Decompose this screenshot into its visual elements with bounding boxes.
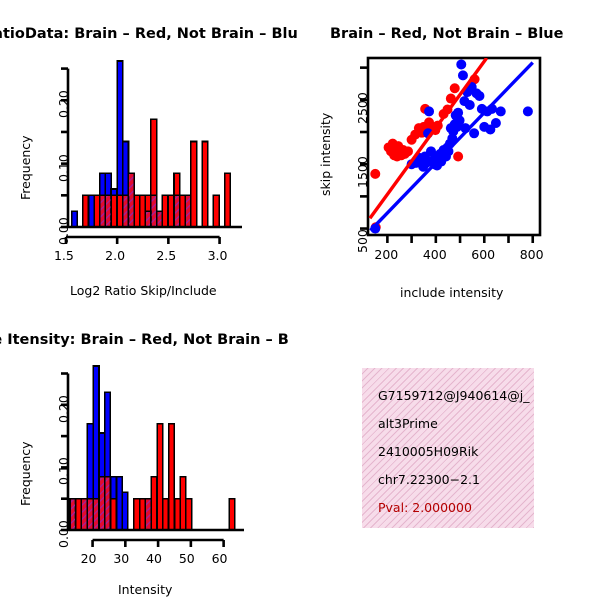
ratio-histogram-plot [0,55,300,315]
info-line: chr7.22300−2.1 [378,472,480,487]
ratio_hist-xtick-label: 2.5 [156,248,176,263]
scatter-plot [300,50,600,310]
info-line: G7159712@J940614@j_ [378,388,529,403]
intensity_hist-xtick-label: 60 [212,551,228,566]
intensity_hist-xtick-label: 20 [81,551,97,566]
scatter-xtick-label: 600 [471,247,495,262]
ratio_hist-ytick-label: 0.00 [56,217,71,245]
intensity_hist-xtick-label: 40 [146,551,162,566]
ratio_hist-ytick-label: 0.10 [56,154,71,182]
scatter-xtick-label: 400 [423,247,447,262]
ratio-histogram-title: RatioData: Brain – Red, Not Brain – Blu [0,26,298,42]
intensity_hist-xtick-label: 50 [179,551,195,566]
ratio_hist-xtick-label: 3.0 [208,248,228,263]
scatter-title: Brain – Red, Not Brain – Blue [330,26,563,42]
panel-intensity-histogram: ne Itensity: Brain – Red, Not Brain – B … [0,310,300,600]
intensity-histogram-title: ne Itensity: Brain – Red, Not Brain – B [0,332,289,348]
info-line: Pval: 2.000000 [378,500,472,515]
scatter-ytick-label: 1500 [355,156,370,188]
scatter-ytick-label: 500 [355,229,370,253]
figure-canvas: RatioData: Brain – Red, Not Brain – Blu … [0,0,600,600]
scatter-ytick-label: 2500 [355,92,370,124]
panel-ratio-histogram: RatioData: Brain – Red, Not Brain – Blu … [0,0,300,310]
ratio_hist-xtick-label: 1.5 [54,248,74,263]
intensity_hist-ytick-label: 0.00 [56,520,71,548]
ratio_hist-ytick-label: 0.20 [56,90,71,118]
panel-scatter: Brain – Red, Not Brain – Blue skip inten… [300,0,600,310]
gene-info-panel: G7159712@J940614@j_alt3Prime2410005H09Ri… [362,368,534,528]
info-panel-text-lines: G7159712@J940614@j_alt3Prime2410005H09Ri… [362,368,534,528]
info-line: alt3Prime [378,416,438,431]
ratio_hist-xtick-label: 2.0 [105,248,125,263]
scatter-xtick-label: 800 [520,247,544,262]
scatter-xtick-label: 200 [374,247,398,262]
intensity_hist-xtick-label: 30 [113,551,129,566]
info-line: 2410005H09Rik [378,444,478,459]
intensity_hist-ytick-label: 0.20 [56,395,71,423]
intensity_hist-ytick-label: 0.10 [56,458,71,486]
